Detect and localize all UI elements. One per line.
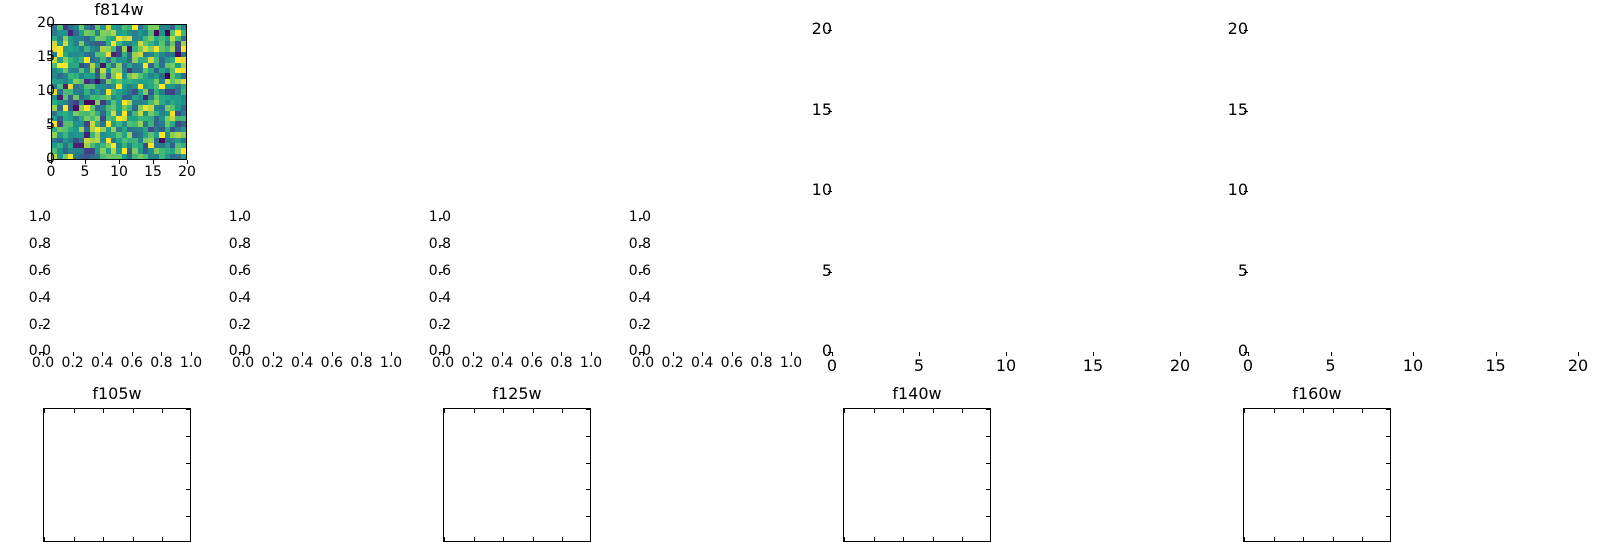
x-tick-label: 10 <box>1383 358 1443 374</box>
y-tick-label: 0.6 <box>391 264 451 278</box>
y-tick-mark-right <box>586 463 590 464</box>
y-tick-mark-right <box>986 409 990 410</box>
x-tick-mark-bottom <box>1362 537 1363 541</box>
y-tick-mark-right <box>1386 516 1390 517</box>
y-tick-mark-right <box>186 436 190 437</box>
x-tick-mark-bottom <box>533 537 534 541</box>
x-tick-mark-top <box>874 409 875 413</box>
x-tick-mark-top <box>474 409 475 413</box>
y-tick-label: 0.8 <box>391 237 451 251</box>
y-tick-label: 15 <box>772 102 832 118</box>
axes-f140w[interactable] <box>843 408 991 542</box>
y-tick-mark-right <box>186 409 190 410</box>
x-tick-mark-bottom <box>962 537 963 541</box>
y-tick-label: 0.6 <box>0 264 51 278</box>
y-tick-label: 5 <box>0 118 55 132</box>
x-tick-mark-top <box>844 409 845 413</box>
y-tick-mark-right <box>986 489 990 490</box>
axes-f814w[interactable] <box>51 24 187 160</box>
x-tick-mark-bottom <box>562 537 563 541</box>
x-tick-mark-top <box>1303 409 1304 413</box>
y-tick-label: 0.0 <box>191 344 251 358</box>
axes-f105w[interactable] <box>43 408 191 542</box>
y-tick-label: 10 <box>0 84 55 98</box>
x-tick-mark-bottom <box>874 537 875 541</box>
y-tick-mark-right <box>186 516 190 517</box>
x-tick-mark-top <box>133 409 134 413</box>
x-tick-mark-bottom <box>933 537 934 541</box>
y-tick-label: 1.0 <box>391 210 451 224</box>
x-tick-mark-top <box>103 409 104 413</box>
y-tick-mark-right <box>1386 489 1390 490</box>
y-tick-label: 0.4 <box>191 291 251 305</box>
matplotlib-figure: f814w 0510152005101520 f105w 0.00.20.40.… <box>0 0 1600 400</box>
y-tick-label: 20 <box>772 21 832 37</box>
y-tick-label: 0.0 <box>391 344 451 358</box>
y-tick-label: 0.2 <box>591 318 651 332</box>
panel-wfc3-ir-total: WFC3 IR Total 0510152005101520 <box>1200 0 1600 400</box>
panel-f105w: f105w 0.00.20.40.60.81.00.00.20.40.60.81… <box>0 190 200 400</box>
panel-f140w: f140w 0.00.20.40.60.81.00.00.20.40.60.81… <box>400 190 600 400</box>
x-tick-mark-bottom <box>903 537 904 541</box>
x-tick-mark-bottom <box>133 537 134 541</box>
x-tick-mark-bottom <box>74 537 75 541</box>
y-tick-mark-right <box>1386 463 1390 464</box>
x-tick-label: 20 <box>1548 358 1600 374</box>
y-tick-label: 0.8 <box>191 237 251 251</box>
y-tick-label: 0.2 <box>191 318 251 332</box>
x-tick-mark-bottom <box>844 537 845 541</box>
x-tick-mark-bottom <box>103 537 104 541</box>
x-tick-mark-bottom <box>1244 537 1245 541</box>
x-tick-label: 0 <box>802 358 862 374</box>
x-tick-mark-bottom <box>444 537 445 541</box>
y-tick-label: 5 <box>772 263 832 279</box>
y-tick-mark-right <box>986 463 990 464</box>
x-tick-mark-bottom <box>44 537 45 541</box>
y-tick-label: 1.0 <box>0 210 51 224</box>
y-tick-label: 10 <box>1188 182 1248 198</box>
y-tick-label: 0.4 <box>391 291 451 305</box>
y-tick-label: 0.2 <box>0 318 51 332</box>
y-tick-label: 1.0 <box>591 210 651 224</box>
y-tick-mark-right <box>1386 409 1390 410</box>
x-tick-mark-top <box>933 409 934 413</box>
x-tick-mark-top <box>1362 409 1363 413</box>
y-tick-label: 5 <box>1188 263 1248 279</box>
heatmap-image-f814w <box>52 25 186 159</box>
y-tick-label: 0.8 <box>591 237 651 251</box>
x-tick-mark-top <box>1333 409 1334 413</box>
y-tick-mark-right <box>586 489 590 490</box>
y-tick-mark-right <box>986 516 990 517</box>
y-tick-mark-right <box>186 463 190 464</box>
axes-f160w[interactable] <box>1243 408 1391 542</box>
y-tick-label: 1.0 <box>191 210 251 224</box>
panel-acs-total: ACS Total 0510152005101520 <box>800 0 1200 400</box>
x-tick-label: 10 <box>976 358 1036 374</box>
y-tick-mark-right <box>586 436 590 437</box>
panel-title-f814w: f814w <box>51 2 187 18</box>
x-tick-mark-top <box>503 409 504 413</box>
x-tick-mark-bottom <box>1303 537 1304 541</box>
x-tick-mark-bottom <box>503 537 504 541</box>
panel-f125w: f125w 0.00.20.40.60.81.00.00.20.40.60.81… <box>200 190 400 400</box>
y-tick-label: 0.8 <box>0 237 51 251</box>
x-tick-mark-bottom <box>1274 537 1275 541</box>
panel-f160w: f160w 0.00.20.40.60.81.00.00.20.40.60.81… <box>600 190 800 400</box>
y-tick-label: 15 <box>0 50 55 64</box>
x-tick-mark-top <box>74 409 75 413</box>
y-tick-mark-right <box>186 489 190 490</box>
x-tick-mark-bottom <box>1333 537 1334 541</box>
x-tick-mark-top <box>1274 409 1275 413</box>
panel-f814w: f814w 0510152005101520 <box>0 0 200 190</box>
y-tick-label: 0.6 <box>191 264 251 278</box>
y-tick-label: 0.2 <box>391 318 451 332</box>
x-tick-label: 0 <box>1218 358 1278 374</box>
x-tick-label: 5 <box>889 358 949 374</box>
x-tick-mark-top <box>162 409 163 413</box>
y-tick-mark-right <box>1386 436 1390 437</box>
x-tick-mark-bottom <box>474 537 475 541</box>
y-tick-label: 0.0 <box>0 344 51 358</box>
y-tick-label: 15 <box>1188 102 1248 118</box>
y-tick-mark-right <box>586 516 590 517</box>
y-tick-label: 0.4 <box>591 291 651 305</box>
y-tick-label: 20 <box>0 16 55 30</box>
y-tick-label: 0 <box>0 152 55 166</box>
y-tick-mark-right <box>586 409 590 410</box>
x-tick-mark-bottom <box>162 537 163 541</box>
y-tick-label: 0.0 <box>591 344 651 358</box>
x-tick-label: 15 <box>1466 358 1526 374</box>
x-tick-mark-top <box>562 409 563 413</box>
y-tick-label: 20 <box>1188 21 1248 37</box>
x-tick-mark-top <box>962 409 963 413</box>
x-tick-label: 5 <box>1301 358 1361 374</box>
x-tick-label: 20 <box>157 165 217 179</box>
y-tick-label: 0 <box>772 343 832 359</box>
y-tick-label: 0 <box>1188 343 1248 359</box>
y-tick-label: 0.6 <box>591 264 651 278</box>
x-tick-mark-top <box>444 409 445 413</box>
x-tick-mark-top <box>1244 409 1245 413</box>
x-tick-mark-top <box>903 409 904 413</box>
y-tick-label: 10 <box>772 182 832 198</box>
x-tick-mark-top <box>533 409 534 413</box>
axes-f125w[interactable] <box>443 408 591 542</box>
y-tick-mark-right <box>986 436 990 437</box>
x-tick-mark-top <box>44 409 45 413</box>
x-tick-label: 15 <box>1063 358 1123 374</box>
y-tick-label: 0.4 <box>0 291 51 305</box>
